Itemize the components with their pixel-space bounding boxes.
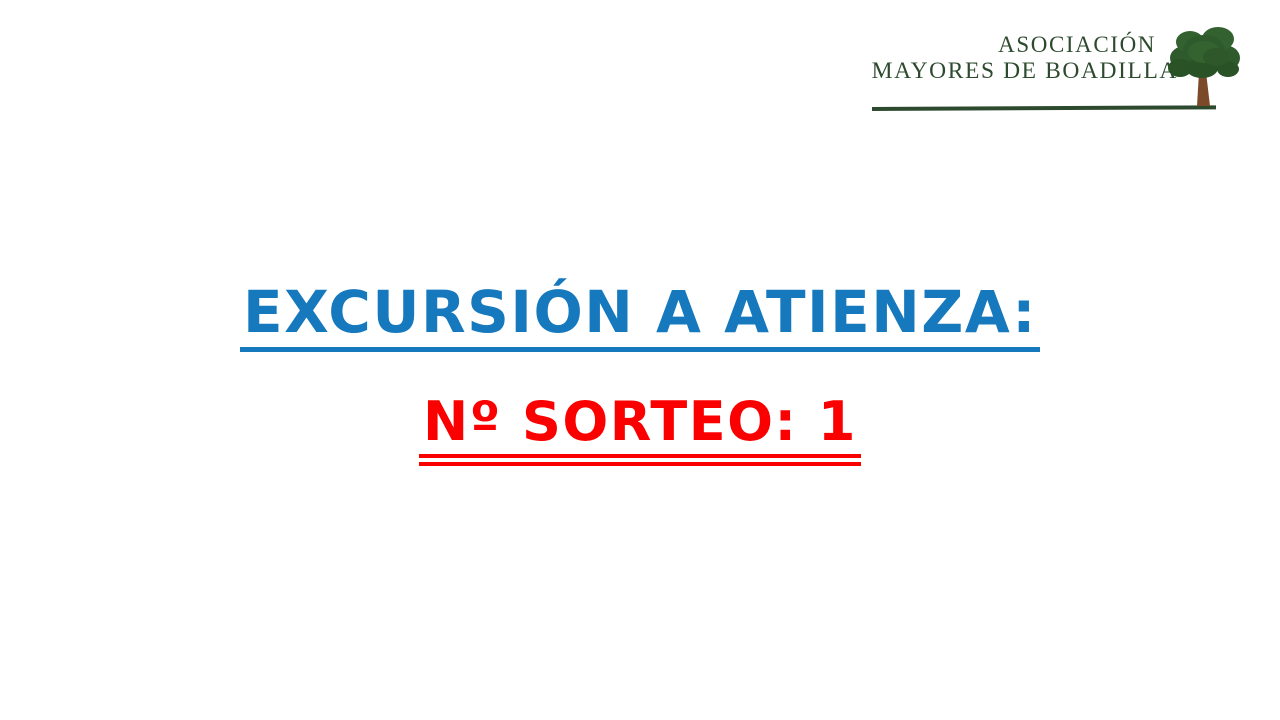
logo-line-mayores-de-boadilla: MAYORES DE BOADILLA xyxy=(866,58,1178,85)
subtitle-row: Nº SORTEO: 1 xyxy=(0,390,1280,461)
page-title: EXCURSIÓN A ATIENZA: xyxy=(243,278,1037,352)
draw-number-label: Nº SORTEO: 1 xyxy=(423,390,857,461)
asociacion-mayores-de-boadilla-logo: ASOCIACIÓN MAYORES DE BOADILLA xyxy=(866,22,1246,118)
logo-line-asociacion: ASOCIACIÓN xyxy=(866,32,1178,58)
slide-canvas: ASOCIACIÓN MAYORES DE BOADILLA EXCURSIÓN… xyxy=(0,0,1280,720)
logo-baseline-rule xyxy=(872,105,1216,111)
tree-icon xyxy=(1166,24,1244,110)
title-row: EXCURSIÓN A ATIENZA: xyxy=(0,278,1280,352)
logo-text-block: ASOCIACIÓN MAYORES DE BOADILLA xyxy=(866,32,1178,85)
